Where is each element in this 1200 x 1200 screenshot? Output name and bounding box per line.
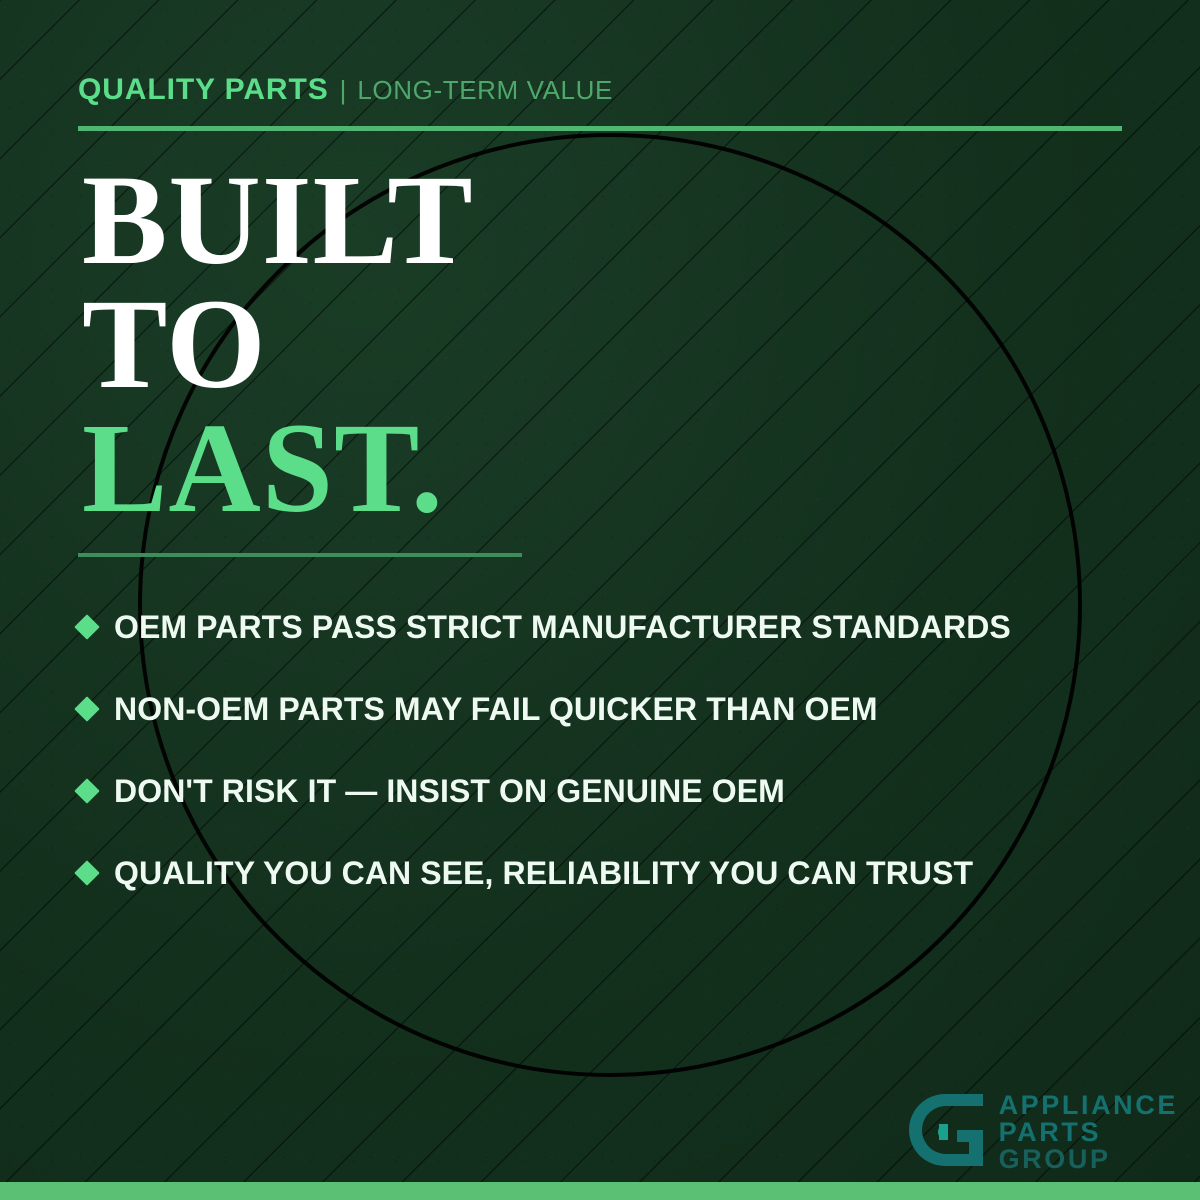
list-item: NON-OEM PARTS MAY FAIL QUICKER THAN OEM bbox=[78, 668, 1148, 750]
list-item: QUALITY YOU CAN SEE, RELIABILITY YOU CAN… bbox=[78, 832, 1148, 914]
list-item: DON'T RISK IT — INSIST ON GENUINE OEM bbox=[78, 750, 1148, 832]
eyebrow-strong-text: QUALITY PARTS bbox=[78, 73, 329, 107]
eyebrow: QUALITY PARTS | LONG-TERM VALUE bbox=[78, 73, 613, 107]
list-item-label: OEM PARTS PASS STRICT MANUFACTURER STAND… bbox=[114, 609, 1011, 646]
list-item-label: DON'T RISK IT — INSIST ON GENUINE OEM bbox=[114, 773, 785, 810]
headline-line-3: LAST. bbox=[82, 406, 474, 530]
diamond-bullet-icon bbox=[74, 614, 99, 639]
logo-line-appliance: APPLIANCE bbox=[999, 1092, 1178, 1119]
bottom-accent-bar bbox=[0, 1182, 1200, 1200]
headline-line-1: BUILT bbox=[82, 158, 474, 282]
list-item-label: QUALITY YOU CAN SEE, RELIABILITY YOU CAN… bbox=[114, 855, 973, 892]
logo-line-parts: PARTS bbox=[999, 1119, 1178, 1146]
list-item: OEM PARTS PASS STRICT MANUFACTURER STAND… bbox=[78, 586, 1148, 668]
logo-line-group: GROUP bbox=[999, 1146, 1178, 1173]
diamond-bullet-icon bbox=[74, 696, 99, 721]
eyebrow-separator: | bbox=[340, 75, 347, 106]
headline-divider-rule bbox=[78, 553, 522, 557]
brand-logo-wordmark: APPLIANCE PARTS GROUP bbox=[999, 1092, 1178, 1173]
header-divider-rule bbox=[78, 126, 1122, 131]
headline-line-2: TO bbox=[82, 282, 474, 406]
poster-content: QUALITY PARTS | LONG-TERM VALUE BUILT TO… bbox=[0, 0, 1200, 1200]
poster-canvas: QUALITY PARTS | LONG-TERM VALUE BUILT TO… bbox=[0, 0, 1200, 1200]
brand-logo: APPLIANCE PARTS GROUP bbox=[905, 1090, 1178, 1174]
eyebrow-light-text: LONG-TERM VALUE bbox=[357, 75, 613, 106]
g-monogram-icon bbox=[905, 1090, 987, 1174]
diamond-bullet-icon bbox=[74, 778, 99, 803]
page-title: BUILT TO LAST. bbox=[82, 158, 474, 530]
diamond-bullet-icon bbox=[74, 860, 99, 885]
list-item-label: NON-OEM PARTS MAY FAIL QUICKER THAN OEM bbox=[114, 691, 878, 728]
benefits-list: OEM PARTS PASS STRICT MANUFACTURER STAND… bbox=[78, 586, 1148, 914]
